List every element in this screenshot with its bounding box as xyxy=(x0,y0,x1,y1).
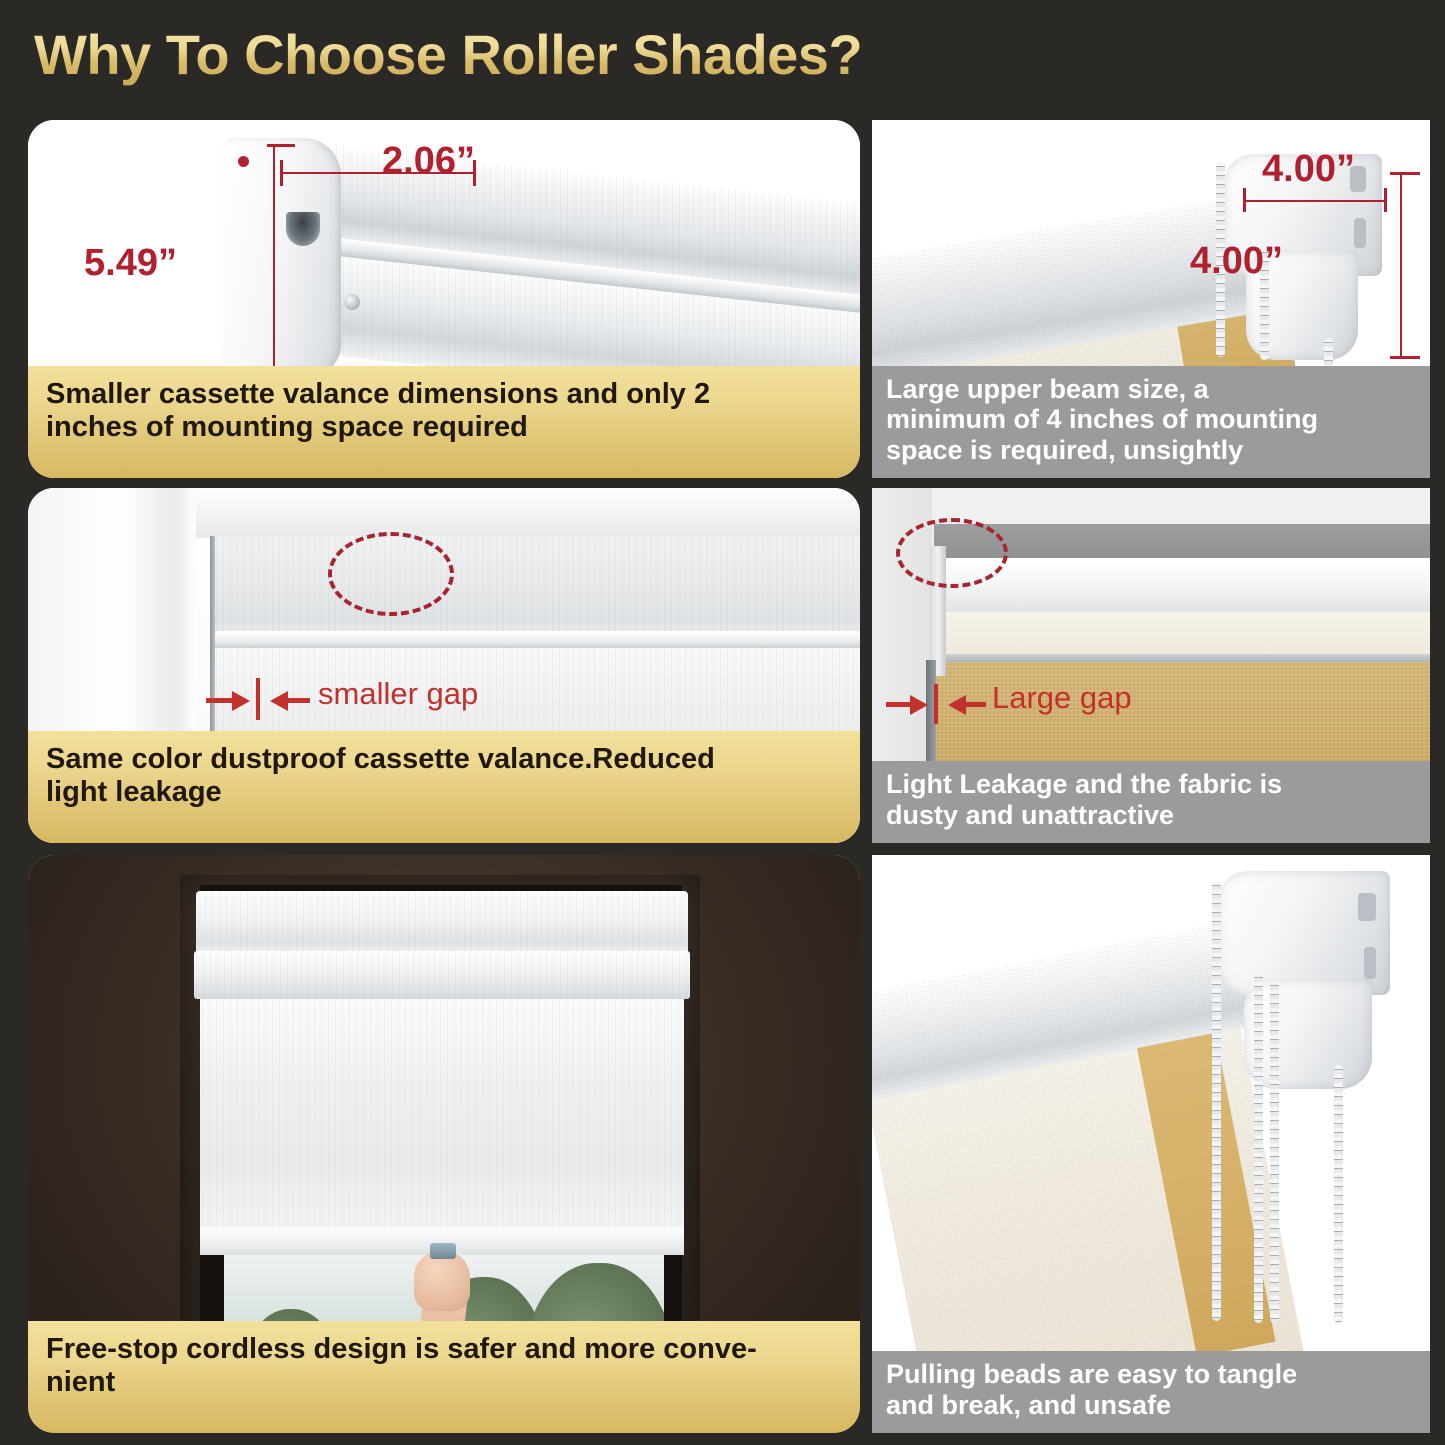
bottom-rail xyxy=(934,654,1430,662)
bracket-slot-2 xyxy=(1354,218,1366,248)
roller-shade-panel xyxy=(200,995,684,1235)
beam-height-dim-line xyxy=(1400,172,1402,358)
page-title: Why To Choose Roller Shades? xyxy=(34,22,862,87)
panel-smaller-gap: smaller gap Same color dustproof cassett… xyxy=(28,488,860,843)
beam-height-tick-bottom xyxy=(1390,356,1420,359)
panel-5-caption: Free-stop cordless design is safer and m… xyxy=(28,1321,860,1433)
bead-chain-4[interactable] xyxy=(1334,1065,1343,1323)
gap-arrow-left-bar xyxy=(206,698,234,703)
cassette-valance-front xyxy=(196,891,688,959)
shade-pull-handle[interactable] xyxy=(430,1243,456,1259)
height-dim-tick-top xyxy=(267,144,295,147)
valance-red-dot xyxy=(238,156,249,167)
panel-6-caption: Pulling beads are easy to tangle and bre… xyxy=(872,1351,1430,1433)
bead-chain-1[interactable] xyxy=(1212,881,1221,1321)
height-dimension-label: 5.49” xyxy=(84,242,177,285)
bead-chain-3[interactable] xyxy=(1270,981,1279,1323)
beam-height-label: 4.00” xyxy=(1190,240,1283,283)
beam-height-tick-top xyxy=(1390,172,1420,175)
gap-highlight-ellipse xyxy=(896,518,1008,588)
beam-width-label: 4.00” xyxy=(1262,148,1355,191)
caption-line-1: Smaller cassette valance dimensions and … xyxy=(46,378,842,411)
gap-arrow-right-bar xyxy=(286,698,310,703)
height-dim-line xyxy=(273,144,275,402)
panel-6-image xyxy=(872,855,1430,1433)
bracket-slot-1 xyxy=(1358,893,1376,921)
white-valance xyxy=(934,558,1430,616)
smaller-gap-label: smaller gap xyxy=(318,676,478,712)
gap-arrow-right-bar xyxy=(964,702,986,707)
panel-4-caption: Light Leakage and the fabric is dusty an… xyxy=(872,761,1430,843)
caption-line-2: dusty and unattractive xyxy=(886,800,1416,831)
bead-chain-2[interactable] xyxy=(1254,973,1263,1323)
cream-fabric-band xyxy=(934,612,1430,656)
caption-line-1: Pulling beads are easy to tangle xyxy=(886,1359,1416,1390)
caption-line-2: nient xyxy=(46,1366,842,1399)
caption-line-1: Free-stop cordless design is safer and m… xyxy=(46,1333,842,1366)
caption-line-2: light leakage xyxy=(46,776,842,809)
beam-width-dim-line xyxy=(1244,200,1386,202)
panel-large-beam: 4.00” 4.00” Large upper beam size, a min… xyxy=(872,120,1430,478)
gap-marker-bar xyxy=(256,678,260,720)
gap-arrow-left-head xyxy=(910,695,928,715)
gap-marker-bar xyxy=(934,684,938,724)
caption-line-2: minimum of 4 inches of mounting xyxy=(886,404,1416,435)
panel-3-caption: Same color dustproof cassette valance.Re… xyxy=(28,731,860,843)
panel-1-caption: Smaller cassette valance dimensions and … xyxy=(28,366,860,478)
panel-cordless-design: Free-stop cordless design is safer and m… xyxy=(28,855,860,1433)
width-dimension-label: 2.06” xyxy=(382,140,475,183)
comparison-grid: 5.49” 2.06” Smaller cassette valance dim… xyxy=(0,110,1445,1445)
valance-slot xyxy=(286,212,320,246)
beam-width-tick-left xyxy=(1243,188,1246,212)
panel-2-caption: Large upper beam size, a minimum of 4 in… xyxy=(872,366,1430,478)
shade-mid-rail xyxy=(214,631,860,649)
gap-highlight-ellipse xyxy=(328,532,454,616)
caption-line-1: Large upper beam size, a xyxy=(886,374,1416,405)
caption-line-3: space is required, unsightly xyxy=(886,435,1416,466)
caption-line-1: Light Leakage and the fabric is xyxy=(886,769,1416,800)
window-frame-top xyxy=(178,488,860,538)
caption-line-2: inches of mounting space required xyxy=(46,411,842,444)
mounting-bracket-lower xyxy=(1244,979,1372,1089)
panel-smaller-cassette: 5.49” 2.06” Smaller cassette valance dim… xyxy=(28,120,860,478)
valance-screw xyxy=(344,294,360,310)
gap-arrow-left-head xyxy=(232,691,250,711)
hand-fist xyxy=(414,1251,470,1311)
bead-chain-3 xyxy=(1324,338,1333,368)
bracket-slot-2 xyxy=(1364,947,1376,979)
beam-width-tick-right xyxy=(1384,188,1387,212)
panel-pulling-beads: Pulling beads are easy to tangle and bre… xyxy=(872,855,1430,1433)
cassette-valance-lower xyxy=(194,951,690,999)
caption-line-2: and break, and unsafe xyxy=(886,1390,1416,1421)
panel-large-gap: Large gap Light Leakage and the fabric i… xyxy=(872,488,1430,843)
caption-line-1: Same color dustproof cassette valance.Re… xyxy=(46,743,842,776)
width-dim-tick-left xyxy=(280,160,283,186)
gap-arrow-left-bar xyxy=(886,702,912,707)
infographic-page: Why To Choose Roller Shades? xyxy=(0,0,1445,1445)
large-gap-label: Large gap xyxy=(992,680,1132,716)
